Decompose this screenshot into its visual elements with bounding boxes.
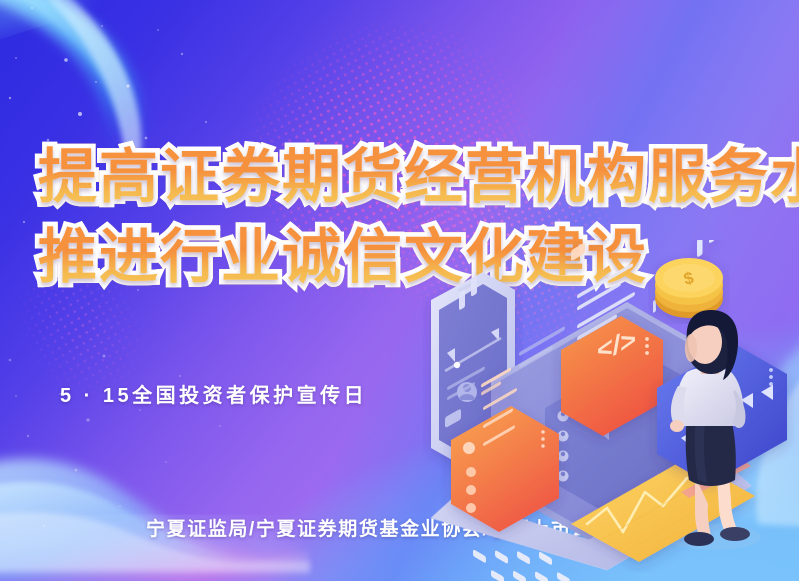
sparkle-particles-bottom-left [0, 330, 310, 581]
headline-line-1: 提高证券期货经营机构服务水平 [38, 142, 799, 212]
figure-shoe-left [684, 532, 714, 546]
figure-hand [670, 420, 684, 432]
promotional-banner: 提高证券期货经营机构服务水平 提高证券期货经营机构服务水平 推进行业诚信文化建设… [0, 0, 799, 581]
isometric-illustration: </> [395, 240, 799, 581]
phone-progress-knob [454, 362, 460, 368]
card-thumb [571, 242, 585, 261]
illustration-svg: </> [395, 240, 799, 581]
card-menu-dots [645, 337, 649, 355]
subtitle-text: 5 · 15全国投资者保护宣传日 [60, 379, 367, 408]
headline-line-1-wrap: 提高证券期货经营机构服务水平 提高证券期货经营机构服务水平 [38, 142, 778, 214]
media-card-menu-dots [769, 368, 773, 386]
figure-shoe-right [720, 527, 750, 541]
gold-coin-stack: $ [655, 258, 723, 318]
figure-hair-edge [685, 334, 697, 362]
figure-skirt [686, 418, 736, 486]
list-card-menu-dots [541, 430, 545, 448]
